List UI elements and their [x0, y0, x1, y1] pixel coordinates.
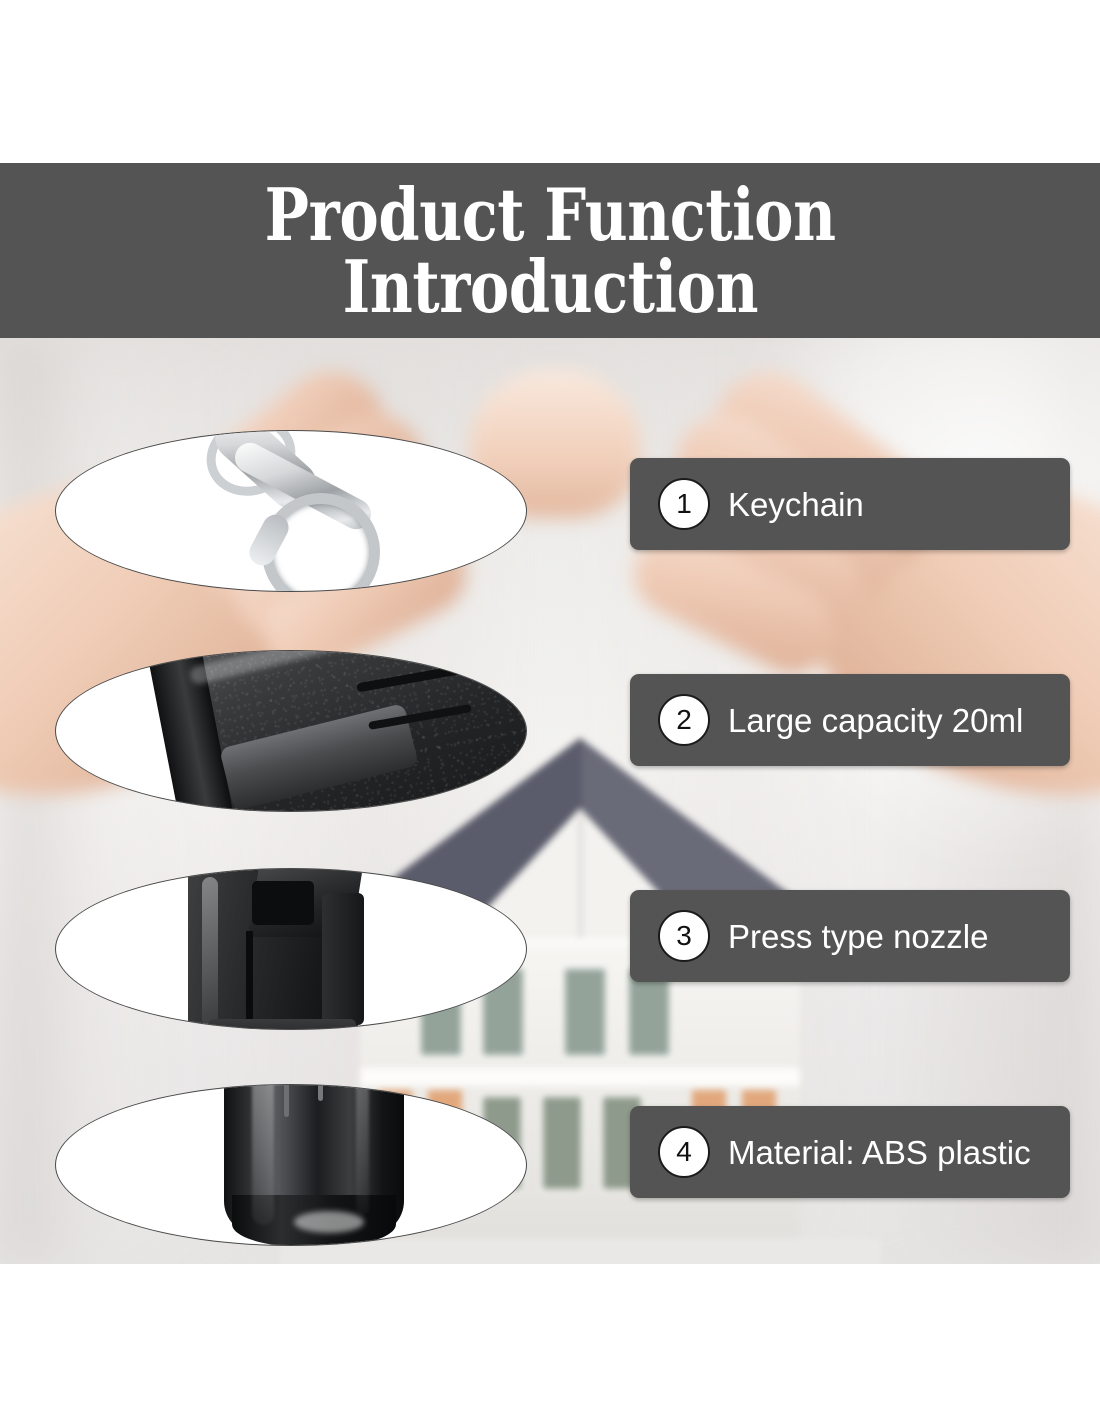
- abs-cylinder-highlight: [356, 1084, 369, 1215]
- feature-badge-3: 3: [658, 910, 710, 962]
- callout-oval-keychain: [55, 430, 527, 592]
- nozzle-highlight: [202, 877, 218, 1027]
- nozzle-closeup: [56, 869, 526, 1029]
- nozzle-seam: [246, 931, 253, 1030]
- feature-badge-1: 1: [658, 478, 710, 530]
- abs-plastic-body-closeup: [56, 1085, 526, 1245]
- abs-cylinder-slit: [284, 1084, 289, 1117]
- abs-cylinder-gloss: [252, 1084, 274, 1225]
- feature-label-1[interactable]: 1 Keychain: [630, 458, 1070, 550]
- feature-label-3[interactable]: 3 Press type nozzle: [630, 890, 1070, 982]
- callout-oval-capacity: [55, 650, 527, 812]
- feature-label-text-4: Material: ABS plastic: [728, 1136, 1031, 1169]
- background-photo: 1 Keychain 2 Large capacity 20ml 3 Press…: [0, 338, 1100, 1264]
- feature-label-2[interactable]: 2 Large capacity 20ml: [630, 674, 1070, 766]
- page-title-line-1: Product Function: [264, 179, 835, 250]
- callout-oval-material: [55, 1084, 527, 1246]
- title-banner: Product Function Introduction: [0, 163, 1100, 338]
- feature-label-text-3: Press type nozzle: [728, 920, 988, 953]
- nozzle-notch: [252, 881, 314, 925]
- bottle-body-closeup: [56, 651, 526, 811]
- abs-cylinder-slit: [318, 1084, 323, 1101]
- page-title-line-2: Introduction: [342, 251, 758, 322]
- nozzle-collar: [208, 1019, 356, 1030]
- feature-badge-2: 2: [658, 694, 710, 746]
- callout-oval-nozzle: [55, 868, 527, 1030]
- product-feature-infographic: Product Function Introduction: [0, 0, 1100, 1422]
- nozzle-side-wall: [322, 893, 364, 1025]
- feature-label-4[interactable]: 4 Material: ABS plastic: [630, 1106, 1070, 1198]
- feature-label-text-1: Keychain: [728, 488, 864, 521]
- keychain-highlight: [62, 430, 140, 498]
- keychain-clasp-closeup: [56, 431, 526, 591]
- feature-badge-4: 4: [658, 1126, 710, 1178]
- feature-label-text-2: Large capacity 20ml: [728, 704, 1023, 737]
- abs-cylinder-base-shine: [294, 1211, 364, 1233]
